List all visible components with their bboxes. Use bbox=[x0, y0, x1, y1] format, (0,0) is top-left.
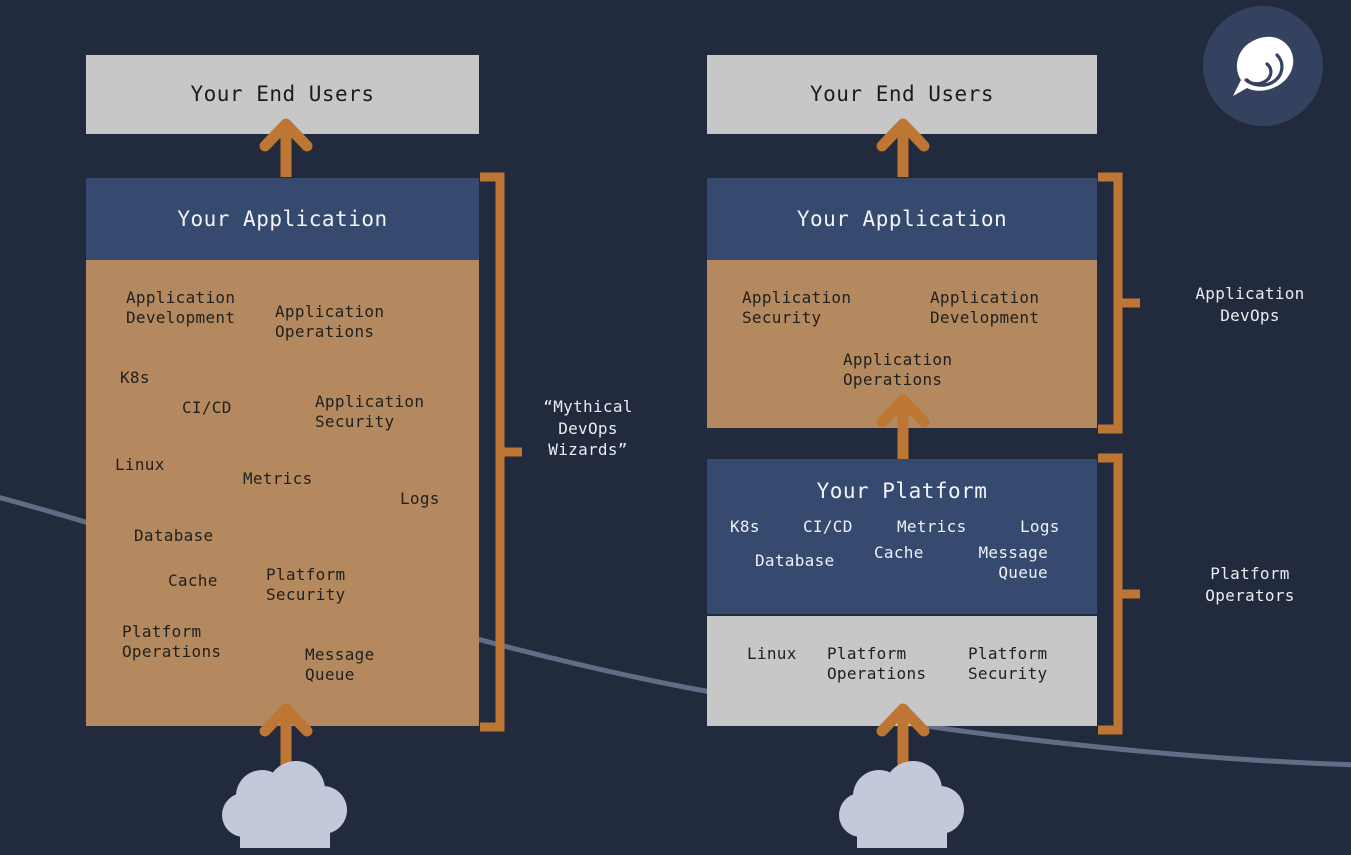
chip-infra-linux: Linux bbox=[747, 644, 797, 664]
chip-platform-security: Platform Security bbox=[266, 565, 345, 606]
right-bracket-label-platform-operators: Platform Operators bbox=[1150, 563, 1350, 606]
chip-metrics: Metrics bbox=[243, 469, 313, 489]
left-bracket-label: “Mythical DevOps Wizards” bbox=[516, 396, 660, 461]
left-application-label: Your Application bbox=[86, 178, 479, 260]
chip-platform-message-queue: Message Queue bbox=[962, 543, 1048, 584]
right-application-box: Your Application bbox=[707, 178, 1097, 260]
chip-cache: Cache bbox=[168, 571, 218, 591]
right-bracket-application-devops bbox=[1092, 172, 1144, 434]
chip-logs: Logs bbox=[400, 489, 440, 509]
chip-message-queue: Message Queue bbox=[305, 645, 375, 686]
chip-platform-database: Database bbox=[755, 551, 834, 571]
upbound-logo-icon bbox=[1203, 6, 1323, 126]
chip-right-application-operations: Application Operations bbox=[843, 350, 952, 391]
chip-right-application-development: Application Development bbox=[930, 288, 1039, 329]
right-application-label: Your Application bbox=[707, 178, 1097, 260]
chip-platform-cicd: CI/CD bbox=[803, 517, 853, 537]
right-arrow-platform-to-app bbox=[875, 393, 931, 459]
chip-infra-platform-operations: Platform Operations bbox=[827, 644, 926, 685]
chip-platform-operations: Platform Operations bbox=[122, 622, 221, 663]
chip-application-security: Application Security bbox=[315, 392, 424, 433]
diagram-canvas: Your End Users Your Application Applicat… bbox=[0, 0, 1351, 855]
chip-platform-metrics: Metrics bbox=[897, 517, 967, 537]
left-application-box: Your Application bbox=[86, 178, 479, 260]
chip-cicd: CI/CD bbox=[182, 398, 232, 418]
chip-linux: Linux bbox=[115, 455, 165, 475]
chip-platform-logs: Logs bbox=[1020, 517, 1060, 537]
chip-right-application-security: Application Security bbox=[742, 288, 851, 329]
chip-platform-k8s: K8s bbox=[730, 517, 760, 537]
chip-k8s: K8s bbox=[120, 368, 150, 388]
chip-application-development: Application Development bbox=[126, 288, 235, 329]
chip-infra-platform-security: Platform Security bbox=[968, 644, 1047, 685]
right-arrow-app-to-users bbox=[875, 117, 931, 179]
left-cloud-icon bbox=[218, 760, 353, 855]
right-platform-label: Your Platform bbox=[707, 459, 1097, 503]
right-bracket-platform-operators bbox=[1092, 453, 1144, 735]
chip-database: Database bbox=[134, 526, 213, 546]
chip-application-operations: Application Operations bbox=[275, 302, 384, 343]
left-arrow-app-to-users bbox=[258, 117, 314, 179]
right-bracket-label-application-devops: Application DevOps bbox=[1150, 283, 1350, 326]
logo-badge bbox=[1203, 6, 1323, 126]
right-cloud-icon bbox=[835, 760, 970, 855]
chip-platform-cache: Cache bbox=[874, 543, 924, 563]
